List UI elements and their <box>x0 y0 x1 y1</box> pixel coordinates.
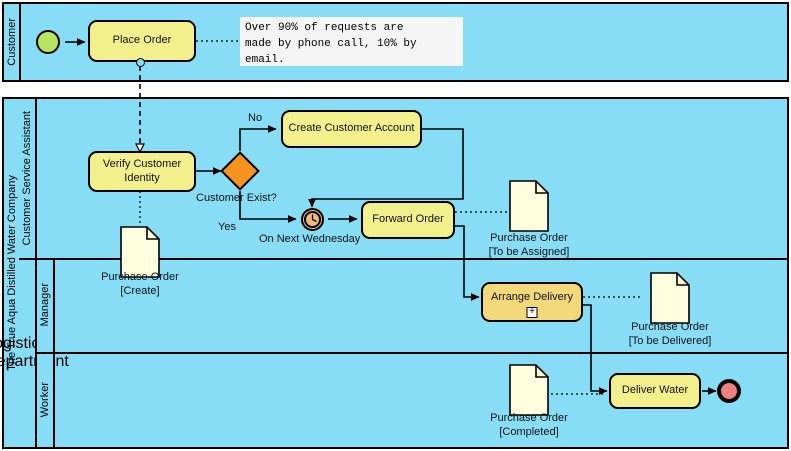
start-event[interactable] <box>36 30 60 54</box>
sublane-manager-header: Manager <box>37 258 55 352</box>
data-object-name: Purchase Order <box>449 232 609 246</box>
task-deliver-water-label: Deliver Water <box>622 384 688 398</box>
task-create-customer-account[interactable]: Create Customer Account <box>281 110 422 148</box>
task-arrange-delivery[interactable]: Arrange Delivery + <box>481 282 583 322</box>
flow-label-no: No <box>248 112 262 124</box>
task-forward-order-label: Forward Order <box>372 213 444 227</box>
document-icon <box>509 364 549 416</box>
data-object-state: [To be Assigned] <box>449 246 609 260</box>
flow-label-yes: Yes <box>218 221 236 233</box>
subprocess-expand-icon[interactable]: + <box>527 307 538 318</box>
bpmn-diagram-canvas: Customer The True Aqua Distilled Water C… <box>0 0 791 451</box>
task-forward-order[interactable]: Forward Order <box>361 201 455 239</box>
gateway-customer-exist-label: Customer Exist? <box>196 192 277 204</box>
data-object-state: [To be Delivered] <box>590 335 750 349</box>
data-object-state: [Create] <box>60 285 220 299</box>
sublane-worker-header: Worker <box>37 352 55 447</box>
place-order-boundary-event[interactable] <box>136 58 145 67</box>
data-object-purchase-order-to-be-delivered[interactable] <box>650 272 690 324</box>
end-event[interactable] <box>717 379 741 403</box>
timer-intermediate-event-inner-ring <box>304 211 321 228</box>
task-verify-customer-identity[interactable]: Verify Customer Identity <box>88 151 196 192</box>
data-object-purchase-order-to-be-assigned[interactable] <box>509 180 549 232</box>
task-arrange-delivery-label: Arrange Delivery <box>491 291 573 305</box>
data-object-state: [Completed] <box>449 426 609 440</box>
data-object-purchase-order-to-be-delivered-label: Purchase Order [To be Delivered] <box>590 321 750 349</box>
lane-logistic-department-header: Logistic Department <box>19 258 37 447</box>
task-create-customer-account-label: Create Customer Account <box>289 122 415 136</box>
data-object-purchase-order-to-be-assigned-label: Purchase Order [To be Assigned] <box>449 232 609 260</box>
text-annotation: Over 90% of requests are made by phone c… <box>240 17 463 66</box>
task-verify-customer-identity-label: Verify Customer Identity <box>94 158 190 186</box>
data-object-name: Purchase Order <box>590 321 750 335</box>
lane-divider-manager-worker <box>37 352 789 354</box>
timer-intermediate-event-label: On Next Wednesday <box>259 233 360 245</box>
data-object-purchase-order-create-label: Purchase Order [Create] <box>60 271 220 299</box>
data-object-purchase-order-completed-label: Purchase Order [Completed] <box>449 412 609 440</box>
pool-customer-header: Customer <box>4 4 21 80</box>
pool-customer-label: Customer <box>6 18 18 66</box>
data-object-purchase-order-completed[interactable] <box>509 364 549 416</box>
document-icon <box>509 180 549 232</box>
task-place-order[interactable]: Place Order <box>88 20 196 62</box>
sublane-worker-label: Worker <box>39 382 51 417</box>
sublane-manager-label: Manager <box>39 283 51 326</box>
document-icon <box>650 272 690 324</box>
data-object-name: Purchase Order <box>449 412 609 426</box>
task-place-order-label: Place Order <box>113 34 172 48</box>
data-object-name: Purchase Order <box>60 271 220 285</box>
lane-customer-service-assistant-label: Customer Service Assistant <box>21 111 33 246</box>
task-deliver-water[interactable]: Deliver Water <box>609 373 701 409</box>
lane-customer-service-assistant-header: Customer Service Assistant <box>19 99 37 258</box>
